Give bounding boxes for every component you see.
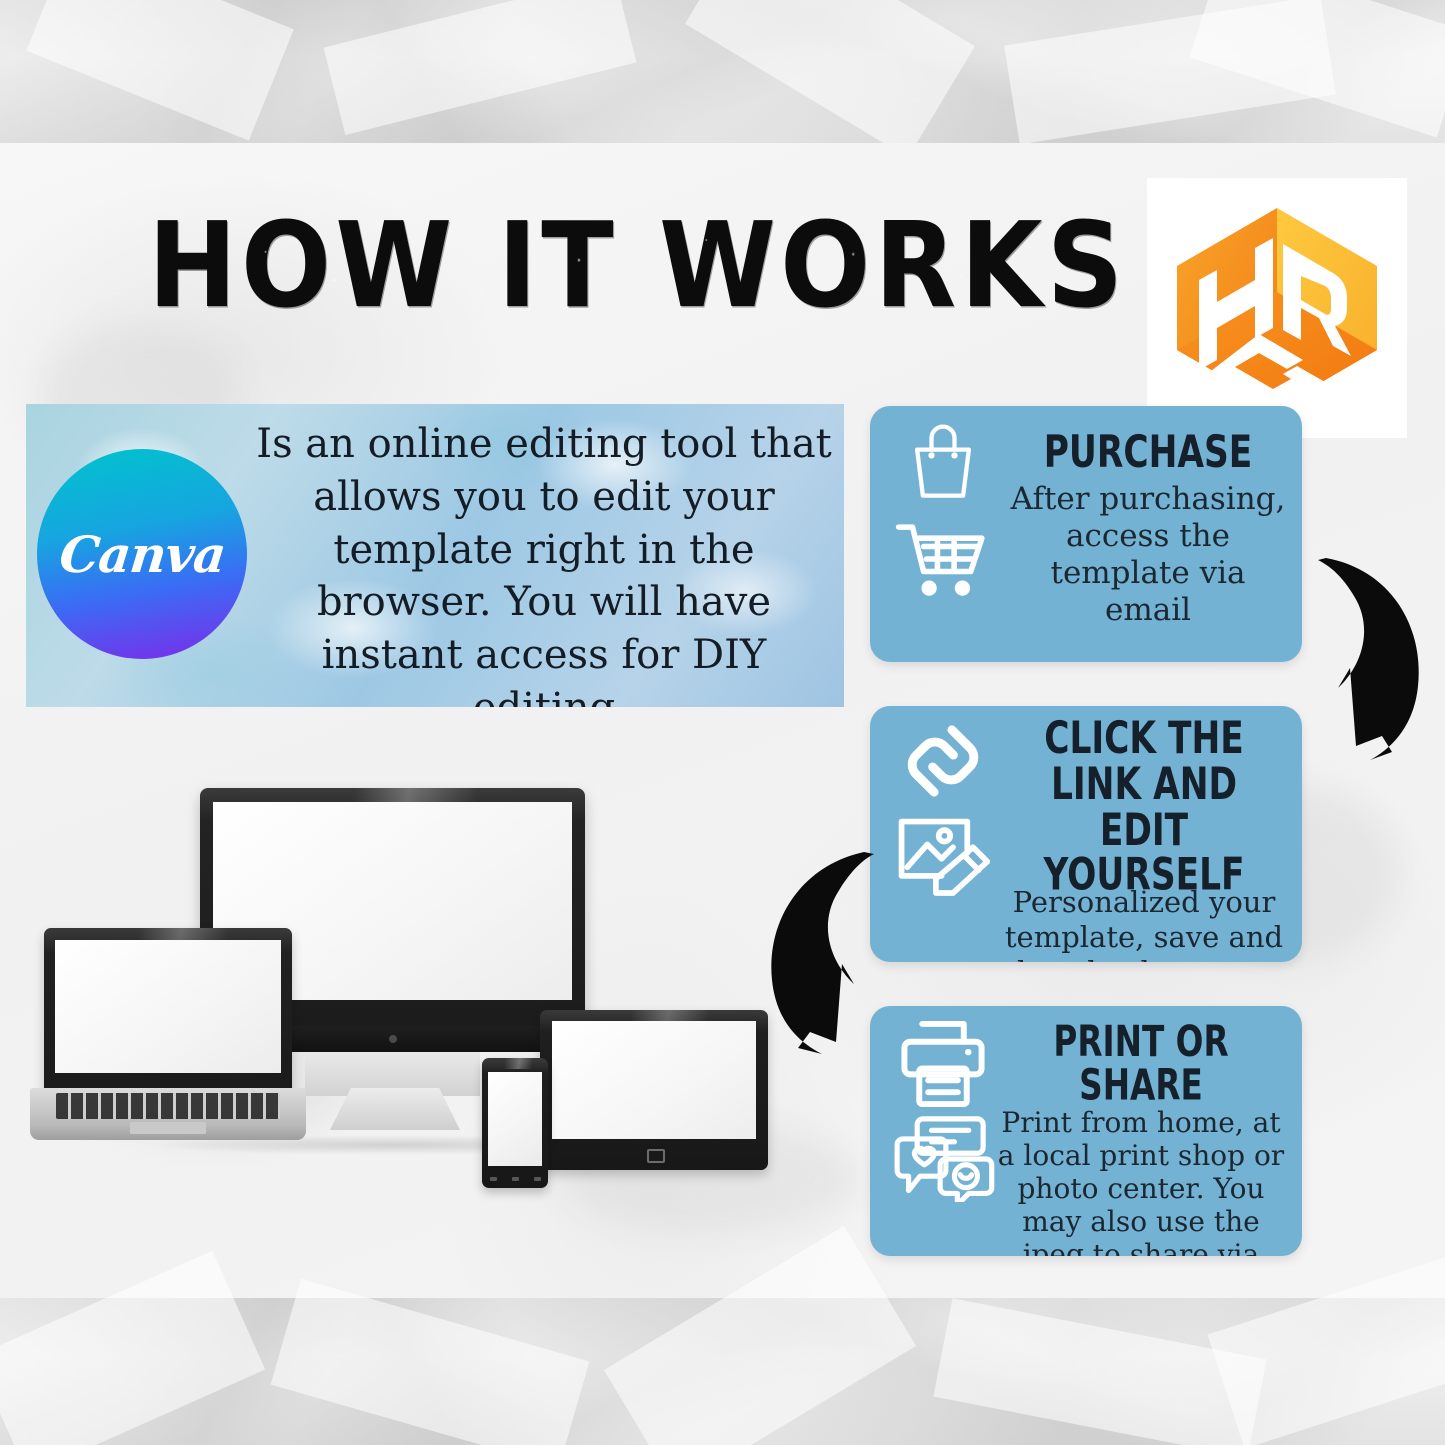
shopping-bag-icon [897,418,989,510]
canva-logo-icon: Canva [37,449,247,659]
paper-texture-band-bottom [0,1298,1445,1445]
step-3-icons [886,1018,1000,1202]
paper-texture-band-top [0,0,1445,143]
smartphone-device [482,1058,548,1188]
canva-info-panel: Canva Is an online editing tool that all… [26,404,844,707]
step-3-body: Print from home, at a local print shop o… [990,1106,1292,1257]
tablet-device [540,1010,768,1170]
arrow-purchase-to-edit [1296,540,1445,772]
laptop-keyboard-base [30,1088,306,1140]
laptop-screen [44,928,292,1091]
curved-arrow-down-left-icon [1296,540,1445,772]
curved-arrow-down-right-icon [752,838,896,1062]
brand-logo [1147,178,1407,438]
step-3-copy: PRINT OR SHARE Print from home, at a loc… [990,1020,1292,1256]
device-mockup-group [30,770,770,1170]
canva-wordmark: Canva [56,525,227,584]
step-1-body: After purchasing, access the template vi… [1006,481,1290,630]
step-1-icons [886,418,1000,602]
chat-bubbles-icon [891,1116,995,1202]
canva-description: Is an online editing tool that allows yo… [254,418,834,707]
step-2-headline: CLICK THE LINK AND EDIT YOURSELF [1017,716,1272,899]
page-title-text: HOW IT WORKS [148,196,1127,334]
shopping-cart-icon [893,516,993,602]
step-2-icons [886,718,1000,896]
step-card-purchase: PURCHASE After purchasing, access the te… [870,406,1302,662]
step-1-copy: PURCHASE After purchasing, access the te… [1006,430,1290,630]
hrg-cube-icon [1147,178,1407,438]
step-3-headline: PRINT OR SHARE [1011,1020,1271,1107]
infographic-canvas: HOW IT WORKS [0,0,1445,1445]
arrow-edit-to-print [752,838,896,1062]
image-edit-icon [893,810,993,896]
step-card-print-share: PRINT OR SHARE Print from home, at a loc… [870,1006,1302,1256]
step-2-copy: CLICK THE LINK AND EDIT YOURSELF Persona… [996,716,1292,962]
step-card-edit: CLICK THE LINK AND EDIT YOURSELF Persona… [870,706,1302,962]
link-icon [895,718,991,804]
step-1-headline: PURCHASE [1026,430,1270,476]
monitor-base [330,1088,460,1130]
page-title: HOW IT WORKS [148,207,1127,325]
printer-icon [895,1018,991,1110]
